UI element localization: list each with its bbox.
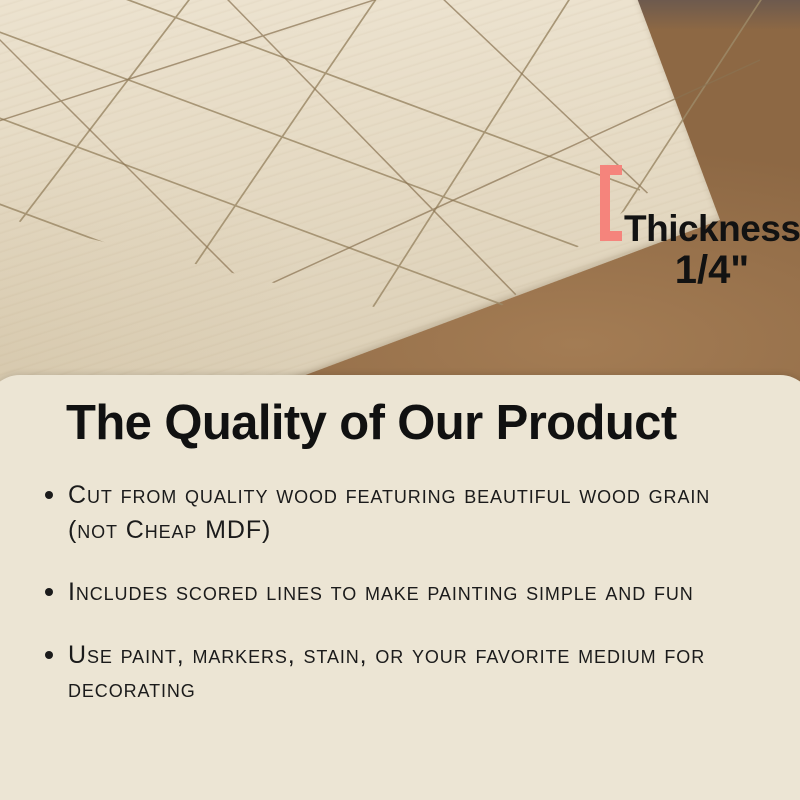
thickness-value: 1/4"	[624, 250, 800, 290]
bracket-stem	[600, 165, 610, 241]
page-title: The Quality of Our Product	[66, 398, 677, 449]
quality-bullet-list: Cut from quality wood featuring beautifu…	[40, 478, 750, 735]
list-item: Use paint, markers, stain, or your favor…	[40, 638, 750, 707]
product-infographic: Thickness 1/4" The Quality of Our Produc…	[0, 0, 800, 800]
bracket-flange-bottom	[600, 231, 622, 241]
thickness-bracket	[600, 165, 622, 241]
list-item: Includes scored lines to make painting s…	[40, 575, 750, 610]
bracket-flange-top	[600, 165, 622, 175]
scored-lines-overlay	[0, 0, 800, 400]
product-photo: Thickness 1/4"	[0, 0, 800, 400]
thickness-label: Thickness	[624, 210, 800, 247]
list-item: Cut from quality wood featuring beautifu…	[40, 478, 750, 547]
